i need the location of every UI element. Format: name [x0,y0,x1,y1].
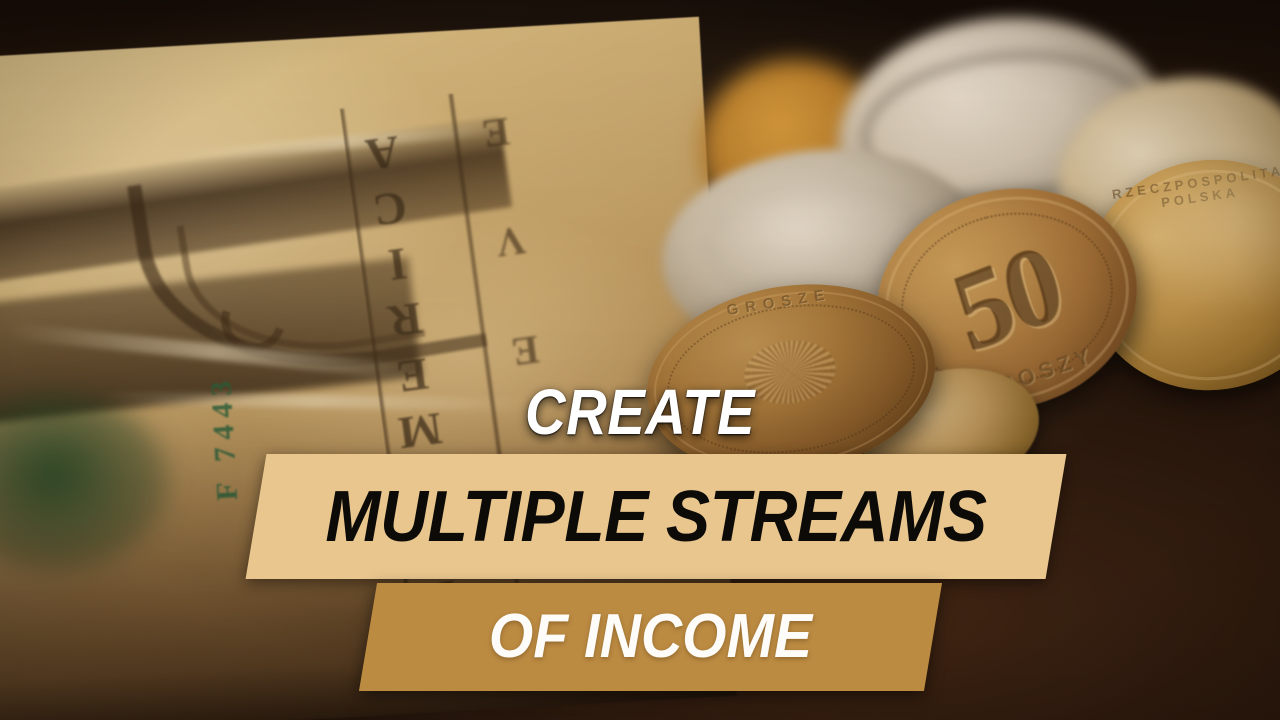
title-overlay: CREATE MULTIPLE STREAMS OF INCOME [0,0,1280,720]
headline-line-1: CREATE [77,380,1203,444]
headline-line-3: OF INCOME [391,583,911,691]
headline-line-2: MULTIPLE STREAMS [288,454,1024,579]
thumbnail-canvas: ES OF AMERICA E V E F 7443 RZECZPOSPOLIT… [0,0,1280,720]
